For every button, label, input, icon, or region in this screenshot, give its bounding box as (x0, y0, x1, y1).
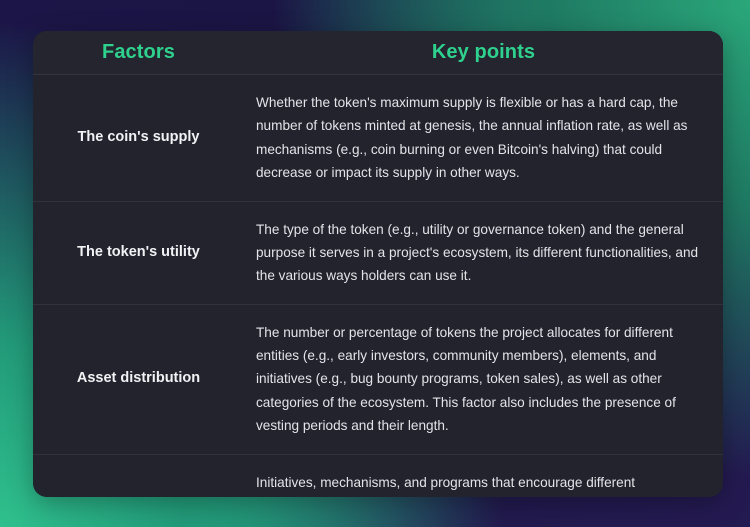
table-row: Asset distribution The number or percent… (33, 305, 723, 455)
factor-label: Ecosystem incentives (33, 455, 244, 498)
factor-label: Asset distribution (33, 305, 244, 454)
column-header-factors: Factors (33, 41, 244, 64)
table-row: Ecosystem incentives Initiatives, mechan… (33, 455, 723, 498)
column-header-key-points: Key points (244, 41, 723, 64)
table-header-row: Factors Key points (33, 31, 723, 75)
table-row: The token's utility The type of the toke… (33, 202, 723, 305)
table-row: The coin's supply Whether the token's ma… (33, 75, 723, 202)
key-points-text: The number or percentage of tokens the p… (244, 305, 723, 454)
key-points-text: Whether the token's maximum supply is fl… (244, 75, 723, 201)
factor-label: The coin's supply (33, 75, 244, 201)
tokenomics-factors-table: Factors Key points The coin's supply Whe… (33, 31, 723, 497)
key-points-text: The type of the token (e.g., utility or … (244, 202, 723, 304)
factor-label: The token's utility (33, 202, 244, 304)
key-points-text: Initiatives, mechanisms, and programs th… (244, 455, 723, 498)
